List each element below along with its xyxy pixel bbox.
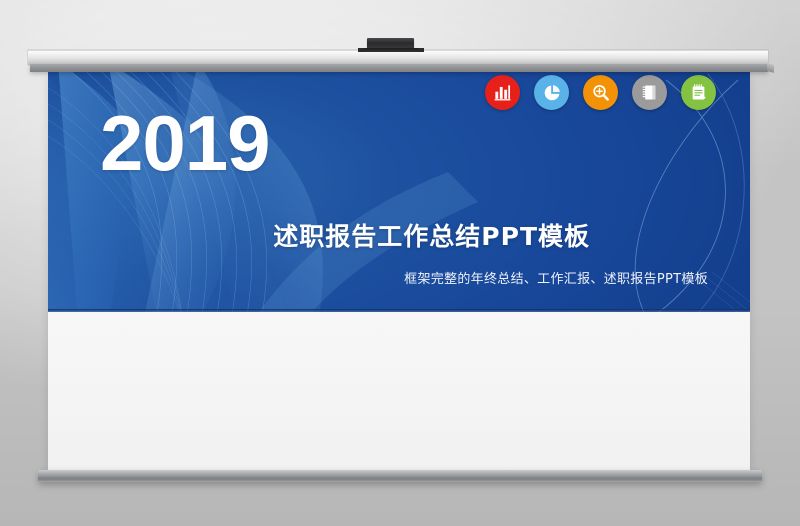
slide-subtitle: 框架完整的年终总结、工作汇报、述职报告PPT模板 — [48, 268, 708, 287]
pie-chart-icon[interactable] — [534, 75, 569, 110]
projector-scene: 2019 述职报告工作总结PPT模板 框架完整的年终总结、工作汇报、述职报告PP… — [0, 0, 800, 526]
bar-chart-icon[interactable] — [485, 75, 520, 110]
projector-screen-casing-lip — [30, 64, 768, 72]
projector-screen-weight-bar — [38, 470, 762, 482]
notepad-edit-icon[interactable] — [681, 75, 716, 110]
slide-title: 述职报告工作总结PPT模板 — [48, 217, 720, 253]
slide-icon-row — [485, 75, 716, 110]
slide-bottom-edge — [48, 309, 750, 312]
notebook-icon[interactable] — [632, 75, 667, 110]
magnifier-zoom-in-icon[interactable] — [583, 75, 618, 110]
projected-slide[interactable]: 2019 述职报告工作总结PPT模板 框架完整的年终总结、工作汇报、述职报告PP… — [48, 72, 750, 312]
slide-year: 2019 — [100, 104, 270, 182]
projector-screen-casing — [28, 50, 768, 65]
mount-foot-icon — [362, 48, 420, 52]
